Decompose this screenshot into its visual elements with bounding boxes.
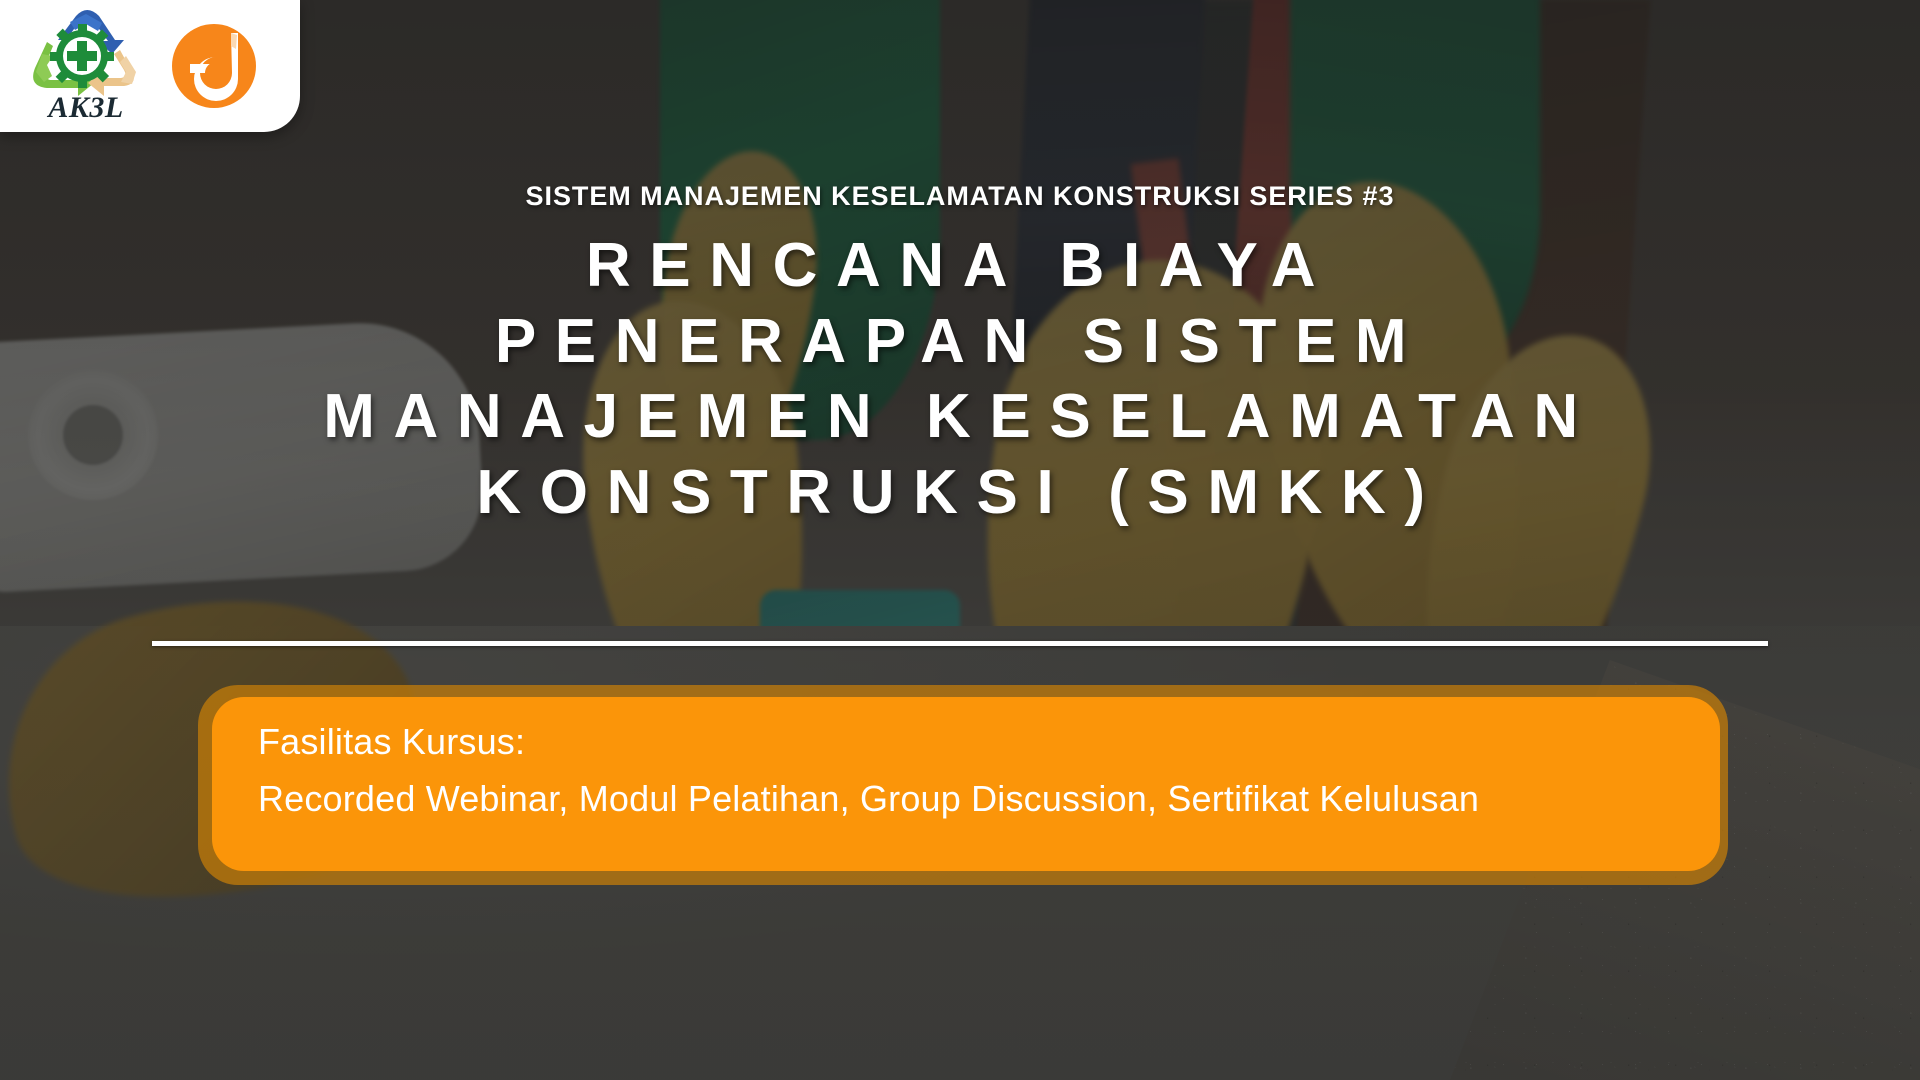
title-line-1: RENCANA BIAYA <box>60 228 1860 304</box>
eyebrow-text: SISTEM MANAJEMEN KESELAMATAN KONSTRUKSI … <box>0 183 1920 210</box>
title-line-4: KONSTRUKSI (SMKK) <box>60 455 1860 531</box>
page-title: RENCANA BIAYA PENERAPAN SISTEM MANAJEMEN… <box>0 228 1920 531</box>
promo-slide: AK3L SISTEM MANAJEMEN KESELAMATAN KONSTR… <box>0 0 1920 1080</box>
logo-card: AK3L <box>0 0 300 132</box>
facilities-items: Recorded Webinar, Modul Pelatihan, Group… <box>258 776 1720 821</box>
facilities-box: Fasilitas Kursus: Recorded Webinar, Modu… <box>212 697 1720 871</box>
ak3l-logo-icon: AK3L <box>20 10 152 122</box>
svg-text:AK3L: AK3L <box>46 91 123 122</box>
title-line-3: MANAJEMEN KESELAMATAN <box>60 379 1860 455</box>
dot-logo-icon <box>168 20 260 112</box>
title-line-2: PENERAPAN SISTEM <box>60 304 1860 380</box>
facilities-heading: Fasilitas Kursus: <box>258 719 1720 764</box>
horizontal-divider <box>152 641 1768 646</box>
